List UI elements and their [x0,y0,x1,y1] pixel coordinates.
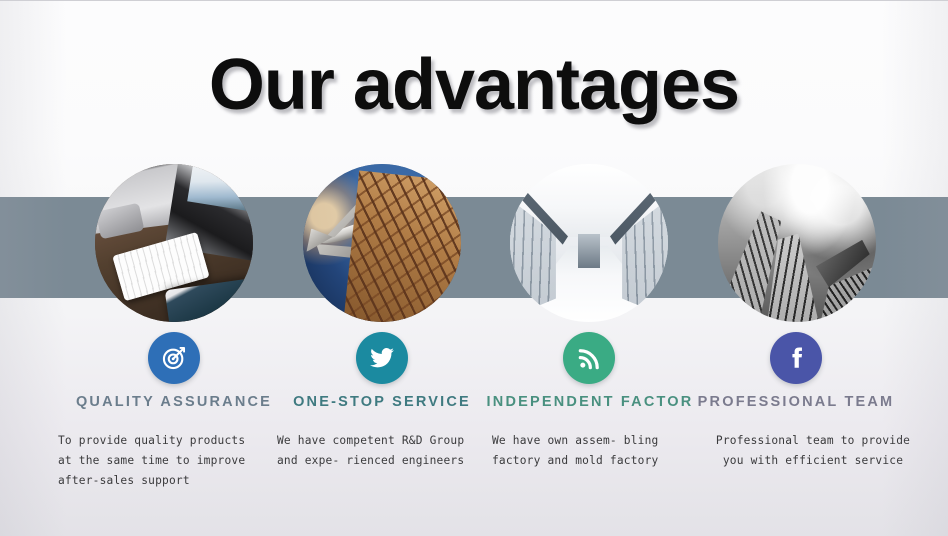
heading-row: QUALITY ASSURANCE ONE-STOP SERVICE INDEP… [0,394,948,416]
facebook-icon [783,345,809,371]
page-title: Our advantages [0,49,948,121]
icon-badge-row [0,332,948,388]
rss-icon-badge[interactable] [563,332,615,384]
airplane-steel-structure-photo [303,164,461,322]
facebook-icon-badge[interactable] [770,332,822,384]
twitter-bird-icon [369,345,395,371]
desk-workspace-photo [95,164,253,322]
photo-circle-quality-assurance [95,164,253,322]
description-quality-assurance: To provide quality products at the same … [58,431,273,491]
description-row: To provide quality products at the same … [0,431,948,501]
target-icon [160,344,188,372]
advantages-slide: Our advantages [0,0,948,536]
photo-circle-one-stop-service [303,164,461,322]
description-professional-team: Professional team to provide you with ef… [708,431,918,471]
photo-circle-independent-factor [510,164,668,322]
target-icon-badge[interactable] [148,332,200,384]
photo-circle-professional-team [718,164,876,322]
skyscrapers-photo [718,164,876,322]
rss-signal-icon [577,346,602,371]
glass-corridor-photo [510,164,668,322]
heading-professional-team: PROFESSIONAL TEAM [666,394,926,410]
description-one-stop-service: We have competent R&D Group and expe- ri… [277,431,492,471]
twitter-icon-badge[interactable] [356,332,408,384]
description-independent-factor: We have own assem- bling factory and mol… [492,431,692,471]
photo-circle-row [0,164,948,322]
